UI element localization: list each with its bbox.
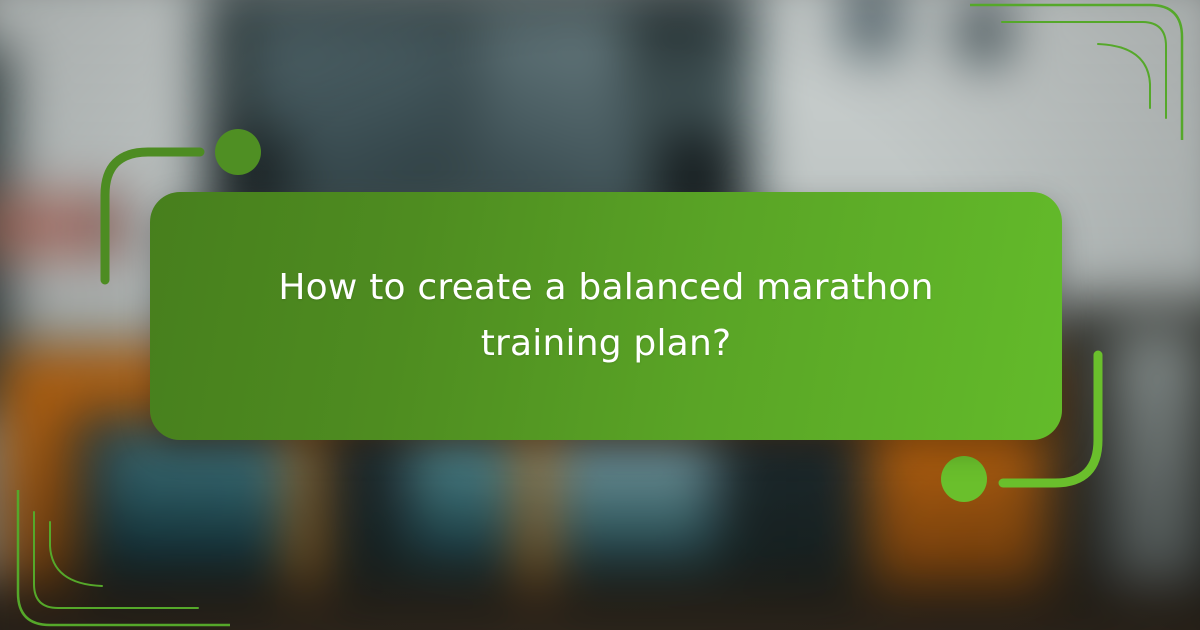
question-card: How to create a balanced marathon traini…	[150, 192, 1062, 440]
accent-dot-top-left	[215, 129, 261, 175]
question-title: How to create a balanced marathon traini…	[240, 260, 972, 372]
accent-dot-bottom-right	[941, 456, 987, 502]
question-card-banner: How to create a balanced marathon traini…	[0, 0, 1200, 630]
